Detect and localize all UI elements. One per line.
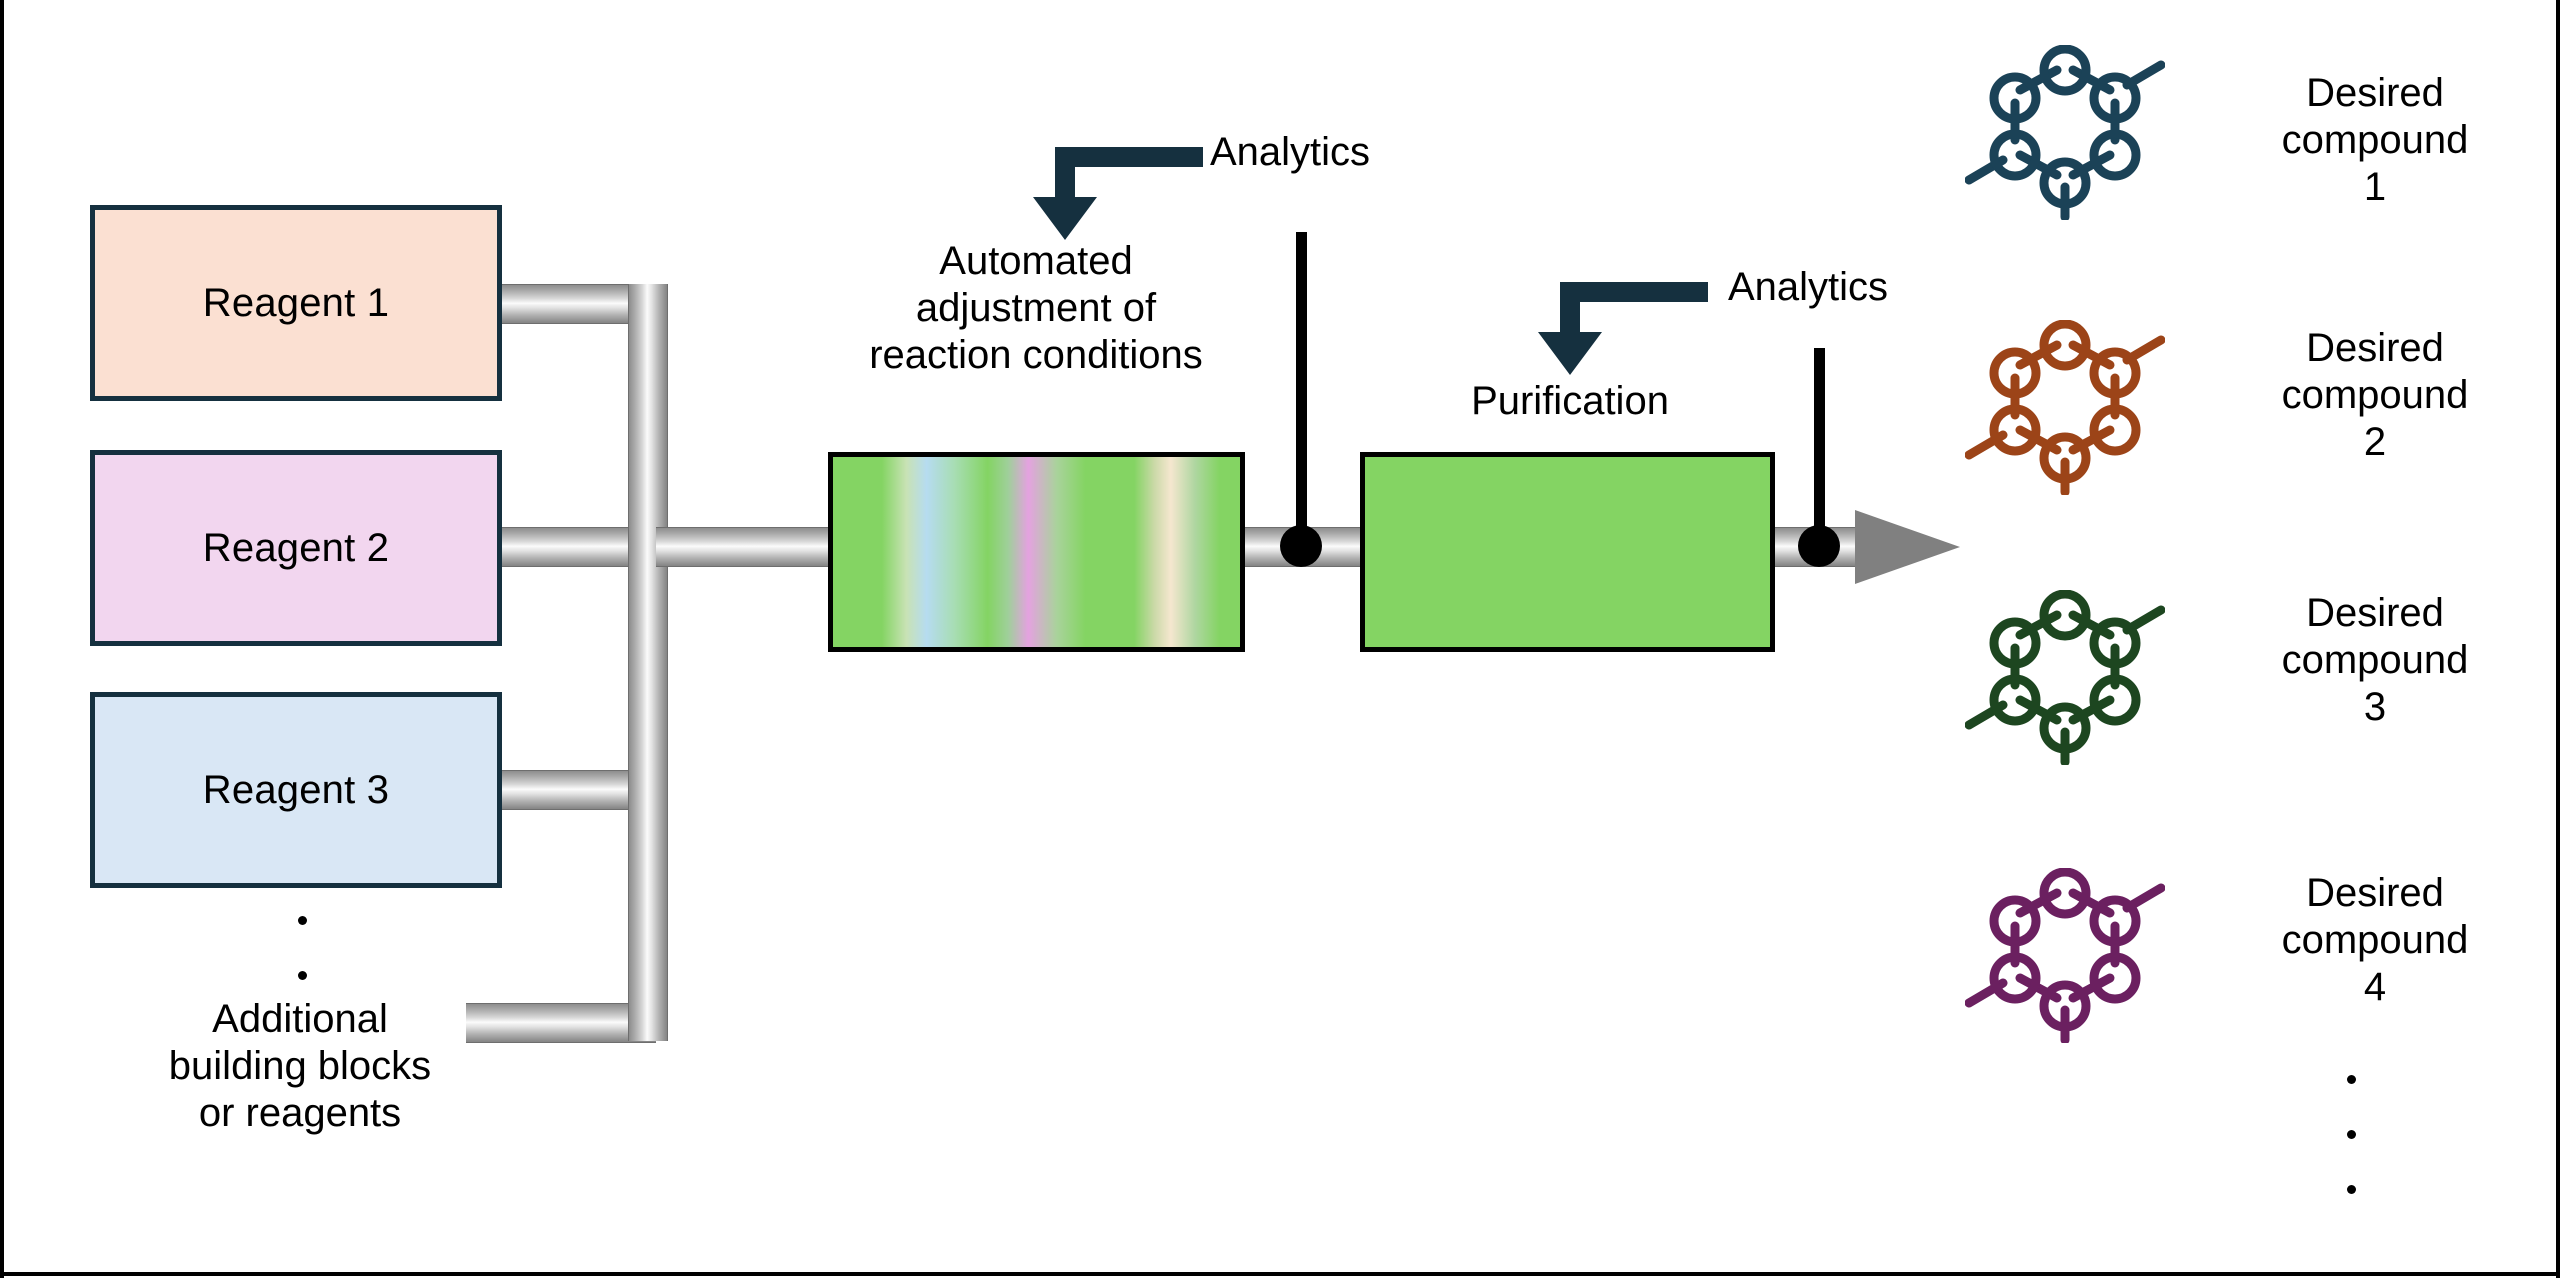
main-line-to-reactor <box>656 527 846 567</box>
reactor-block[interactable] <box>828 452 1245 652</box>
vertical-manifold-pipe <box>628 284 668 1041</box>
diagram-canvas: Reagent 1 Reagent 2 Reagent 3 Additional… <box>0 0 2560 1280</box>
molecule-compound-2 <box>1965 320 2165 495</box>
analytics-probe-stem-reactor <box>1296 232 1307 547</box>
reagent-label-1: Reagent 1 <box>203 281 389 326</box>
purification-caption: Purification <box>1395 378 1745 425</box>
reactor-caption: Automated adjustment of reaction conditi… <box>806 238 1266 378</box>
product-ellipsis-dot-2 <box>2347 1130 2356 1139</box>
frame-bottom-border <box>0 1272 2560 1276</box>
reagent-box-reagent-2[interactable]: Reagent 2 <box>90 450 502 646</box>
analytics-label-reactor: Analytics <box>1210 130 1370 175</box>
analytics-probe-dot-reactor <box>1280 525 1322 567</box>
reagent-box-reagent-3[interactable]: Reagent 3 <box>90 692 502 888</box>
frame-left-border <box>0 0 4 1278</box>
reagent-box-reagent-1[interactable]: Reagent 1 <box>90 205 502 401</box>
output-arrowhead <box>1855 510 1965 585</box>
frame-right-border <box>2556 0 2560 1278</box>
product-ellipsis-dot-1 <box>2347 1075 2356 1084</box>
molecule-compound-4 <box>1965 868 2165 1043</box>
reagent-label-2: Reagent 2 <box>203 526 389 571</box>
analytics-probe-dot-purification <box>1798 525 1840 567</box>
product-label-1: Desired compound 1 <box>2220 70 2530 210</box>
additional-reagents-label: Additional building blocks or reagents <box>110 996 490 1136</box>
molecule-compound-3 <box>1965 590 2165 765</box>
product-label-3: Desired compound 3 <box>2220 590 2530 730</box>
purification-block[interactable] <box>1360 452 1775 652</box>
analytics-arrow-purification <box>1530 270 1730 385</box>
reagent-label-3: Reagent 3 <box>203 768 389 813</box>
molecule-compound-1 <box>1965 45 2165 220</box>
input-ellipsis-dot-2 <box>298 971 307 980</box>
product-label-2: Desired compound 2 <box>2220 325 2530 465</box>
input-ellipsis-dot-1 <box>298 916 307 925</box>
analytics-label-purification: Analytics <box>1728 265 1888 310</box>
product-label-4: Desired compound 4 <box>2220 870 2530 1010</box>
analytics-probe-stem-purification <box>1814 348 1825 547</box>
analytics-arrow-reactor <box>1025 135 1225 250</box>
product-ellipsis-dot-3 <box>2347 1185 2356 1194</box>
